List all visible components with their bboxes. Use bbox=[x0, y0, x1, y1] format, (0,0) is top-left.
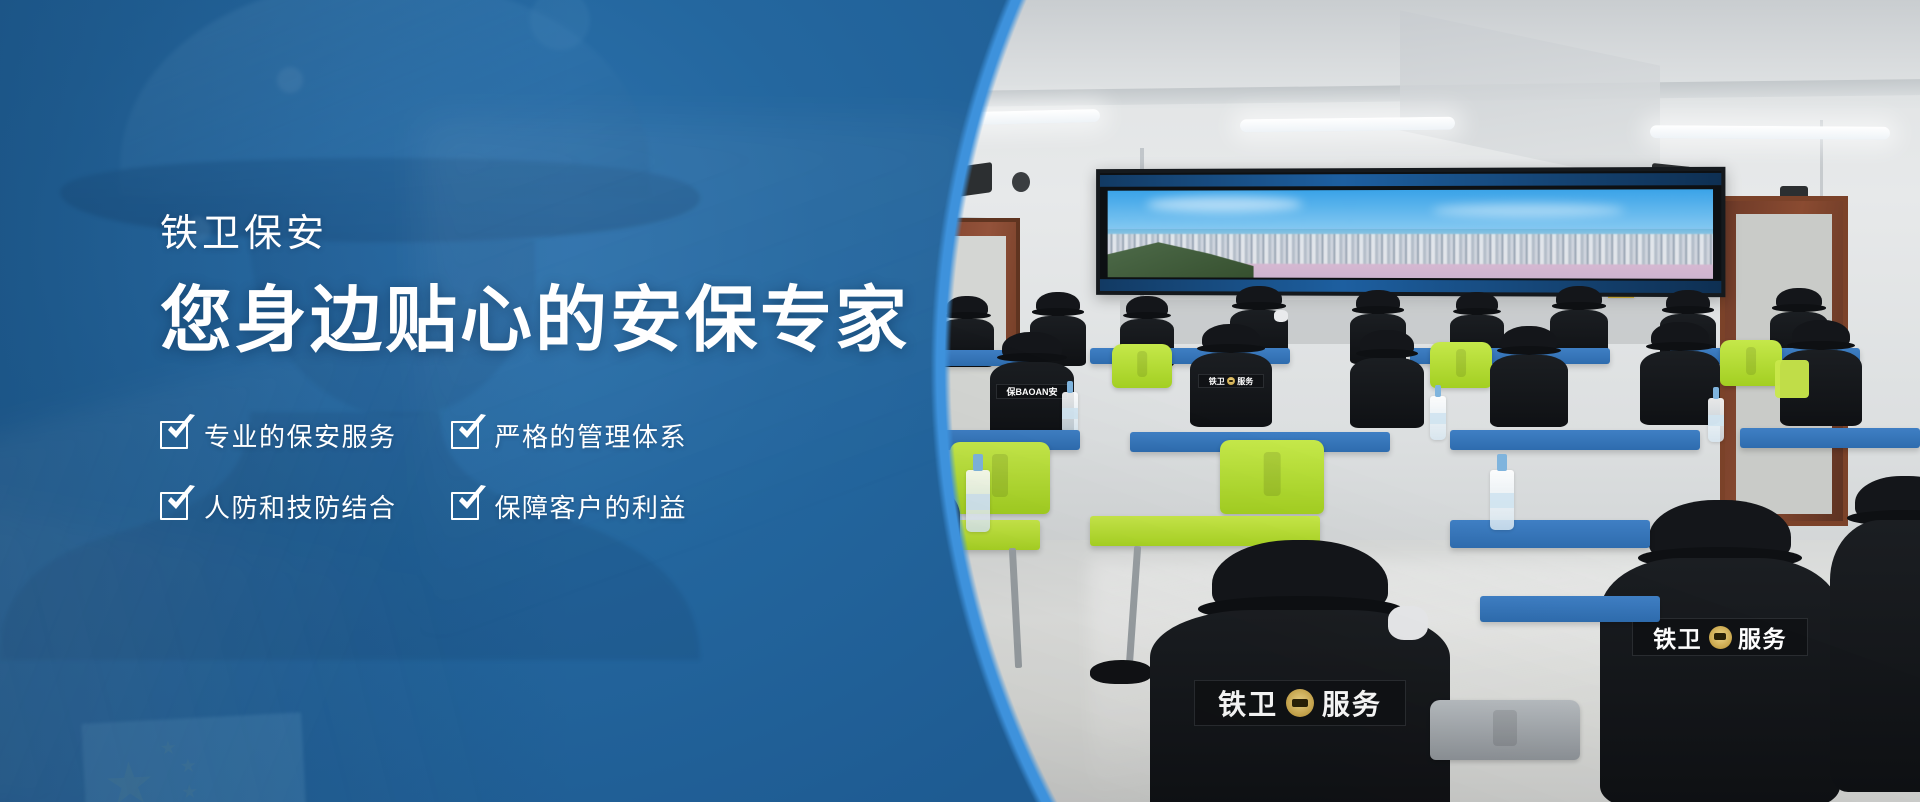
hero-photo-region: 铁卫服务 保BAOAN安 铁卫服务 bbox=[790, 0, 1920, 802]
brand-eyebrow: 铁卫保安 bbox=[160, 215, 910, 253]
photo-shading bbox=[790, 0, 1920, 802]
check-box-icon bbox=[160, 492, 188, 520]
feature-row: 人防和技防结合 保障客户的利益 bbox=[160, 488, 910, 525]
check-mark-icon bbox=[164, 414, 198, 444]
check-mark-icon bbox=[164, 485, 198, 515]
check-box-icon bbox=[451, 421, 479, 449]
check-box-icon bbox=[160, 421, 188, 449]
feature-label: 专业的保安服务 bbox=[204, 417, 397, 454]
feature-label: 保障客户的利益 bbox=[495, 488, 688, 525]
feature-item[interactable]: 严格的管理体系 bbox=[451, 417, 688, 454]
feature-item[interactable]: 专业的保安服务 bbox=[160, 417, 397, 454]
feature-item[interactable]: 人防和技防结合 bbox=[160, 488, 397, 525]
page-title: 您身边贴心的安保专家 bbox=[160, 283, 910, 361]
check-mark-icon bbox=[455, 414, 489, 444]
feature-list: 专业的保安服务 严格的管理体系 人防和技防结合 bbox=[160, 417, 910, 525]
feature-label: 人防和技防结合 bbox=[204, 488, 397, 525]
check-mark-icon bbox=[455, 485, 489, 515]
hero-banner: 铁卫服务 保BAOAN安 铁卫服务 bbox=[0, 0, 1920, 802]
check-box-icon bbox=[451, 492, 479, 520]
hero-copy: 铁卫保安 您身边贴心的安保专家 专业的保安服务 严格的管理体系 bbox=[160, 215, 910, 525]
feature-row: 专业的保安服务 严格的管理体系 bbox=[160, 417, 910, 454]
feature-label: 严格的管理体系 bbox=[495, 417, 688, 454]
feature-item[interactable]: 保障客户的利益 bbox=[451, 488, 688, 525]
training-classroom-photo: 铁卫服务 保BAOAN安 铁卫服务 bbox=[790, 0, 1920, 802]
